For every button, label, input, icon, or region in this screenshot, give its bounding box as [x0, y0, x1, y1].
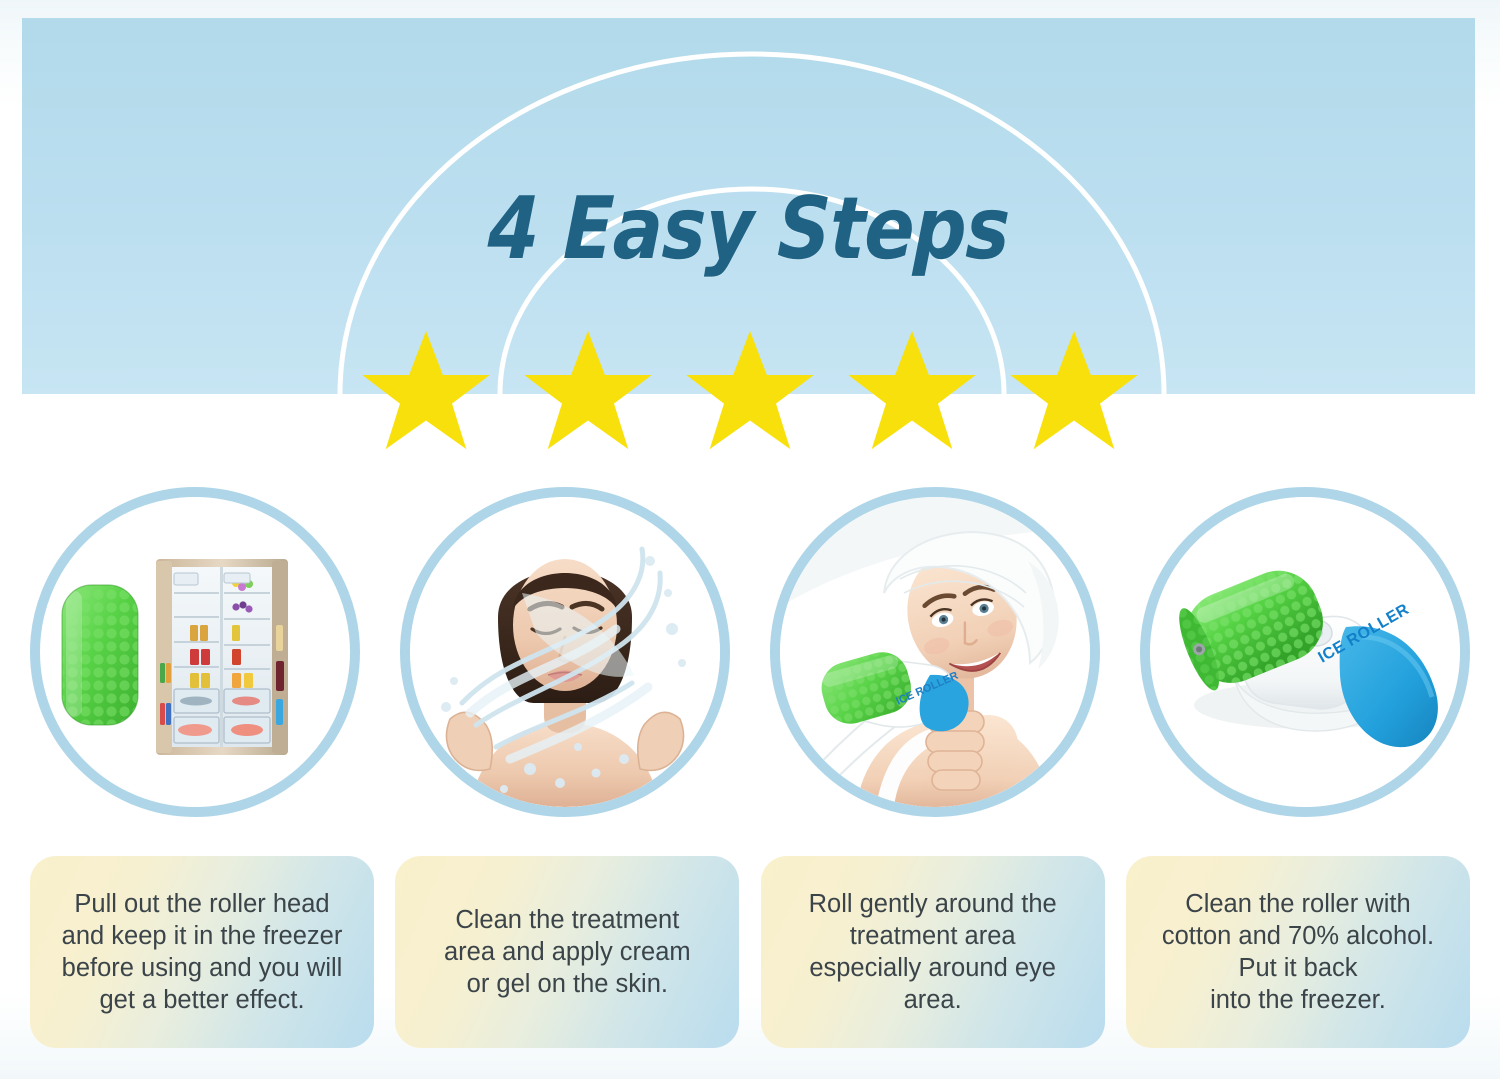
- step-caption-text-3: Roll gently around the treatment area es…: [809, 888, 1057, 1017]
- star-icon: [847, 328, 977, 452]
- product-infographic-poster: 4 Easy Steps: [0, 0, 1500, 1079]
- page-title: 4 Easy Steps: [122, 186, 1374, 272]
- step-image-4: ICE ROLLER: [1140, 487, 1470, 817]
- step-image-2-inner: [410, 497, 720, 807]
- roller-head-freezer-illustration: [40, 497, 350, 807]
- step-caption-row: Pull out the roller head and keep it in …: [30, 856, 1470, 1048]
- step-caption-text-4: Clean the roller with cotton and 70% alc…: [1162, 888, 1434, 1017]
- open-refrigerator: [156, 559, 288, 755]
- step-caption-card-2: Clean the treatment area and apply cream…: [395, 856, 739, 1048]
- step-image-4-inner: ICE ROLLER: [1150, 497, 1460, 807]
- step-image-2: [400, 487, 730, 817]
- step-image-row: ICE ROLLER: [30, 487, 1470, 827]
- step-image-1-inner: [40, 497, 350, 807]
- ice-roller-product-illustration: ICE ROLLER: [1150, 497, 1460, 807]
- rating-stars: [0, 328, 1500, 448]
- green-roller-head: [62, 585, 138, 725]
- step-image-1: [30, 487, 360, 817]
- star-icon: [685, 328, 815, 452]
- step-caption-text-1: Pull out the roller head and keep it in …: [62, 888, 343, 1017]
- woman-using-ice-roller-illustration: ICE ROLLER: [780, 497, 1090, 807]
- star-icon: [523, 328, 653, 452]
- step-image-3: ICE ROLLER: [770, 487, 1100, 817]
- step-caption-text-2: Clean the treatment area and apply cream…: [444, 904, 691, 1000]
- step-caption-card-4: Clean the roller with cotton and 70% alc…: [1126, 856, 1470, 1048]
- step-caption-card-1: Pull out the roller head and keep it in …: [30, 856, 374, 1048]
- star-icon: [1009, 328, 1139, 452]
- face-washing-water-splash-illustration: [410, 497, 720, 807]
- step-image-3-inner: ICE ROLLER: [780, 497, 1090, 807]
- step-caption-card-3: Roll gently around the treatment area es…: [761, 856, 1105, 1048]
- star-icon: [361, 328, 491, 452]
